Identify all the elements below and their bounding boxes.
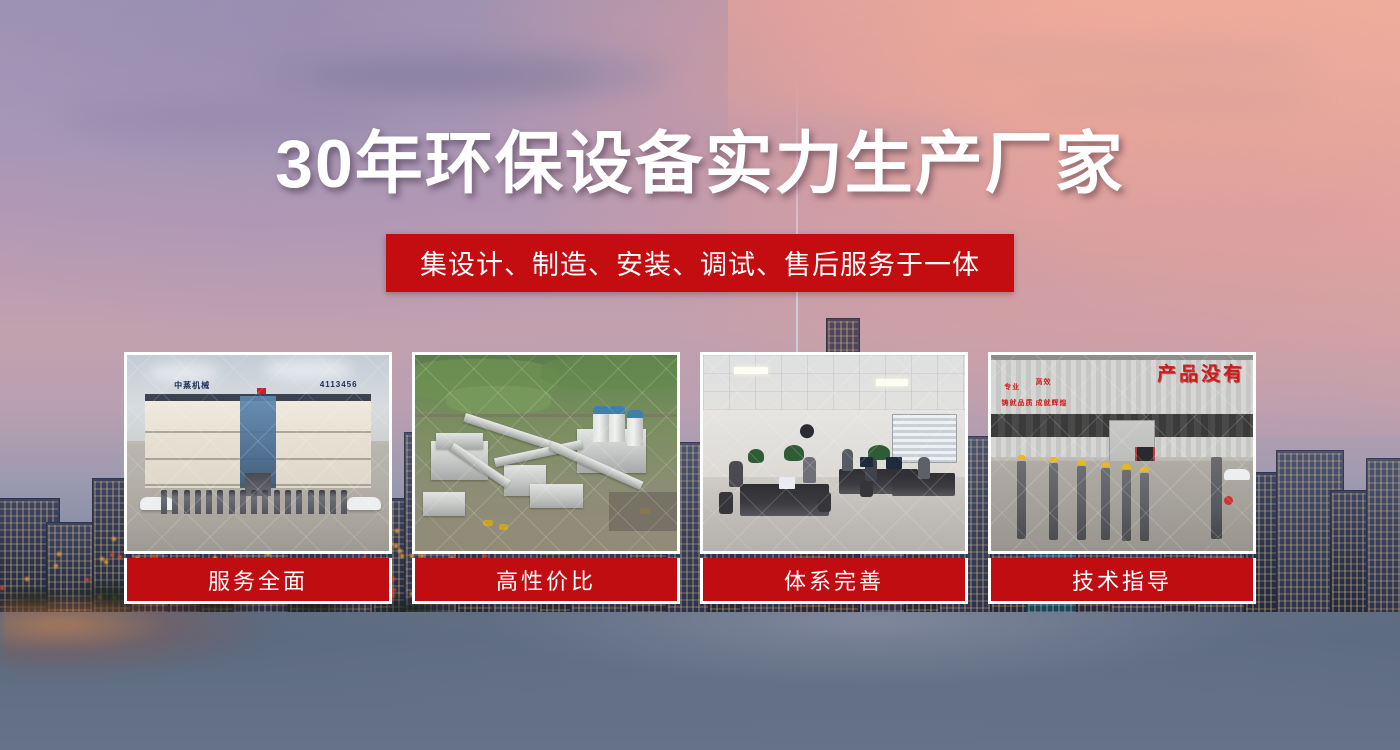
yellow-helmet xyxy=(1122,464,1131,469)
person xyxy=(729,461,743,487)
wall-text-small: 铸就品质 xyxy=(1001,398,1033,408)
factory-worker xyxy=(1122,470,1131,541)
potted-plant xyxy=(748,449,764,463)
staff-member xyxy=(296,490,302,514)
flag xyxy=(257,388,266,394)
card-photo-factory-workers: 产品没有 专业 高效 铸就品质 成就辉煌 xyxy=(988,352,1256,554)
ceiling xyxy=(703,355,965,414)
ceiling-light xyxy=(876,379,908,386)
staff-member xyxy=(285,490,291,514)
yellow-helmet xyxy=(1101,462,1110,467)
subtitle-container: 集设计、制造、安装、调试、售后服务于一体 xyxy=(0,234,1400,292)
page-title: 30年环保设备实力生产厂家 xyxy=(0,128,1400,201)
feature-card[interactable]: 中蒸机械 4113456 服务全面 xyxy=(124,352,392,604)
factory-worker xyxy=(1101,468,1110,541)
staff-member xyxy=(308,490,314,514)
yellow-helmet xyxy=(1049,457,1058,462)
desk xyxy=(740,484,829,515)
staff-member xyxy=(184,490,190,514)
wall-decal xyxy=(792,418,822,440)
staff-member xyxy=(217,490,223,514)
factory-worker xyxy=(1077,466,1086,540)
factory-exterior-photo: 产品没有 专业 高效 铸就品质 成就辉煌 xyxy=(991,355,1253,551)
card-photo-office-interior xyxy=(700,352,968,554)
card-caption: 体系完善 xyxy=(700,558,968,604)
parked-car xyxy=(347,497,381,510)
green-field xyxy=(446,386,551,413)
yellow-helmet xyxy=(1140,467,1149,472)
potted-plant xyxy=(784,445,804,461)
parked-car xyxy=(140,497,174,510)
cloud xyxy=(300,62,600,92)
person xyxy=(803,457,816,483)
feature-card[interactable]: 体系完善 xyxy=(700,352,968,604)
feature-card-list: 中蒸机械 4113456 服务全面 xyxy=(124,352,1276,604)
staff-member xyxy=(251,490,257,514)
office-interior-photo xyxy=(703,355,965,551)
building-photo: 中蒸机械 4113456 xyxy=(127,355,389,551)
staff-member xyxy=(206,490,212,514)
laptop xyxy=(779,477,795,489)
monitor xyxy=(886,457,902,469)
cloud xyxy=(960,40,1320,74)
promo-banner: 30年环保设备实力生产厂家 集设计、制造、安装、调试、售后服务于一体 xyxy=(0,0,1400,750)
card-photo-industrial-plant xyxy=(412,352,680,554)
window-blinds xyxy=(892,414,957,463)
staff-member xyxy=(195,490,201,514)
card-caption: 服务全面 xyxy=(124,558,392,604)
staff-member xyxy=(341,490,347,514)
card-photo-company-building: 中蒸机械 4113456 xyxy=(124,352,392,554)
feature-card[interactable]: 产品没有 专业 高效 铸就品质 成就辉煌 技术指导 xyxy=(988,352,1256,604)
staff-member xyxy=(240,490,246,514)
subtitle-banner: 集设计、制造、安装、调试、售后服务于一体 xyxy=(386,234,1014,292)
staff-member xyxy=(330,490,336,514)
factory-worker xyxy=(1049,463,1058,539)
staff-member xyxy=(262,490,268,514)
monitor xyxy=(860,457,873,467)
staff-member xyxy=(161,490,167,514)
wall-text-small: 高效 xyxy=(1036,377,1052,387)
photo-cloud xyxy=(263,359,353,381)
ceiling-light xyxy=(734,367,768,374)
green-field xyxy=(541,355,680,390)
card-caption: 高性价比 xyxy=(412,558,680,604)
factory-worker xyxy=(1140,473,1149,542)
wall-text-large: 产品没有 xyxy=(1157,359,1245,386)
staff-member xyxy=(319,490,325,514)
supervisor xyxy=(1211,457,1222,539)
card-caption: 技术指导 xyxy=(988,558,1256,604)
chair xyxy=(818,492,831,512)
chair xyxy=(719,492,733,514)
building-sign-text: 中蒸机械 xyxy=(174,380,210,391)
person xyxy=(918,457,930,479)
yellow-helmet xyxy=(1017,455,1026,460)
staff-member xyxy=(274,490,280,514)
person xyxy=(842,449,853,471)
shore-lights-glow xyxy=(0,600,330,690)
cloud xyxy=(1080,200,1380,222)
wall-text-small: 成就辉煌 xyxy=(1036,398,1068,408)
staff-member xyxy=(172,490,178,514)
building-phone-number: 4113456 xyxy=(320,380,358,389)
cloud xyxy=(1020,88,1320,114)
wall-text-small: 专业 xyxy=(1004,382,1020,392)
factory-worker xyxy=(1017,461,1026,539)
parked-car xyxy=(1224,469,1250,480)
feature-card[interactable]: 高性价比 xyxy=(412,352,680,604)
staff-member xyxy=(229,490,235,514)
aerial-plant-photo xyxy=(415,355,677,551)
